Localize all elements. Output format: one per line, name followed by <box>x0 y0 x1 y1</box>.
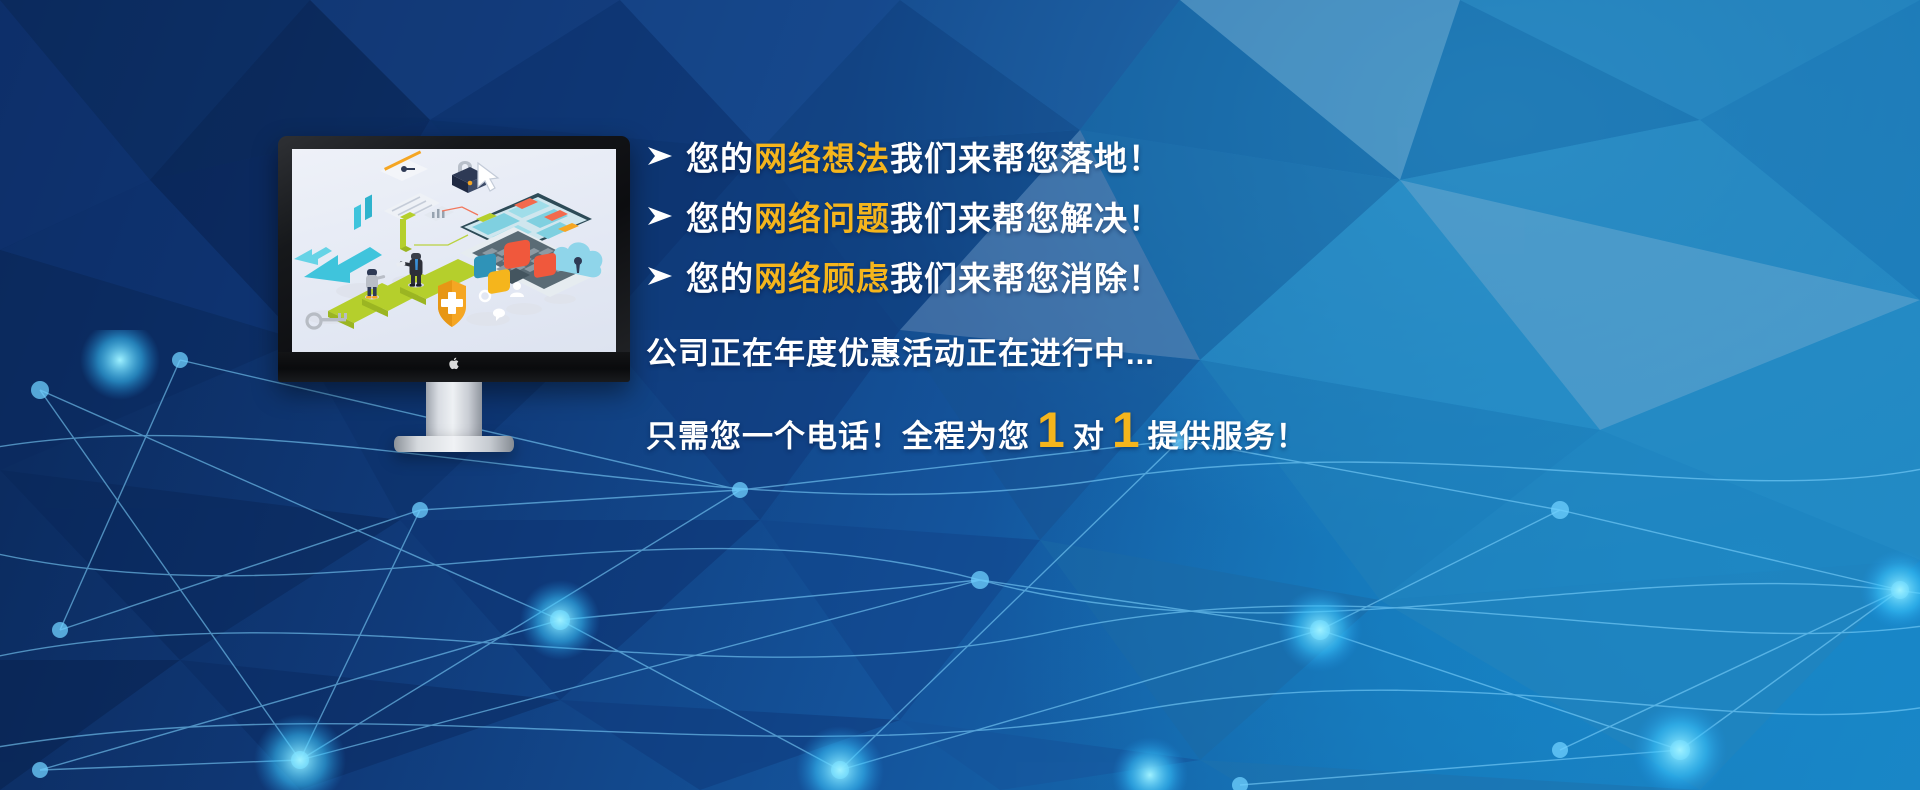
arrow-right-icon <box>646 265 686 287</box>
arrow-right-icon <box>646 145 686 167</box>
bullet-text-2: 您的网络问题我们来帮您解决！ <box>686 192 1162 240</box>
bullet-suffix-2: 我们来帮您解决！ <box>890 200 1162 237</box>
imac-monitor <box>278 136 630 446</box>
bullet-row-3: 您的网络顾虑我们来帮您消除！ <box>646 246 1806 306</box>
key-card-icon <box>380 150 428 181</box>
apple-logo <box>449 357 460 370</box>
bullet-highlight-3: 网络顾虑 <box>754 260 890 297</box>
cta-middle: 对 <box>1073 411 1105 456</box>
shield-plus-icon <box>438 280 466 327</box>
up-arrow-icon <box>294 247 332 265</box>
promo-text: 公司正在年度优惠活动正在进行中... <box>646 328 1806 373</box>
bullet-prefix-2: 您的 <box>686 200 754 237</box>
bullet-suffix-3: 我们来帮您消除！ <box>890 260 1162 297</box>
document-icon <box>384 193 440 252</box>
bullet-prefix-3: 您的 <box>686 260 754 297</box>
cta-number-first: 1 <box>1030 405 1073 455</box>
cta-tail: 提供服务！ <box>1148 411 1308 456</box>
bullet-text-3: 您的网络顾虑我们来帮您消除！ <box>686 252 1162 300</box>
bullet-suffix-1: 我们来帮您落地！ <box>890 140 1162 177</box>
arrow-right-icon <box>646 205 686 227</box>
isometric-illustration <box>292 149 616 352</box>
red-app-icon <box>534 252 556 278</box>
bullet-text-1: 您的网络想法我们来帮您落地！ <box>686 132 1162 180</box>
monitor-screen <box>292 149 616 352</box>
bullet-row-2: 您的网络问题我们来帮您解决！ <box>646 186 1806 246</box>
cta-number-second: 1 <box>1105 405 1148 455</box>
promo-banner: 您的网络想法我们来帮您落地！ 您的网络问题我们来帮您解决！ 您的网络顾虑我们来帮… <box>0 0 1920 790</box>
monitor-stand-base <box>394 436 514 452</box>
bullet-prefix-1: 您的 <box>686 140 754 177</box>
cta-line: 只需您一个电话！全程为您 1 对 1 提供服务！ <box>646 405 1806 456</box>
bullet-highlight-2: 网络问题 <box>754 200 890 237</box>
bullet-row-1: 您的网络想法我们来帮您落地！ <box>646 126 1806 186</box>
copy-block: 您的网络想法我们来帮您落地！ 您的网络问题我们来帮您解决！ 您的网络顾虑我们来帮… <box>646 126 1806 456</box>
cta-lead: 只需您一个电话！全程为您 <box>646 411 1030 456</box>
bullet-highlight-1: 网络想法 <box>754 140 890 177</box>
